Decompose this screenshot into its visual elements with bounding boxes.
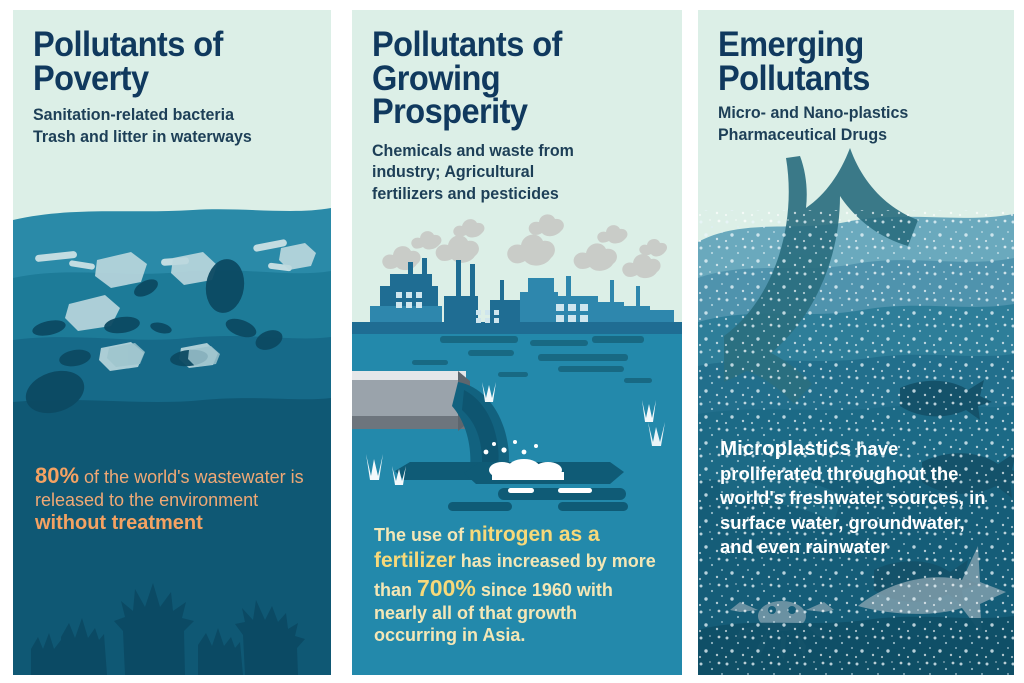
prosperity-header: Pollutants of Growing Prosperity Chemica… — [352, 10, 682, 205]
poverty-subtitle: Sanitation-related bacteria Trash and li… — [33, 105, 303, 148]
prosperity-stat-lead: The use of — [374, 525, 469, 545]
poverty-header: Pollutants of Poverty Sanitation-related… — [13, 10, 331, 148]
poverty-stat-emphasis: without treatment — [35, 512, 203, 534]
poverty-stat-value: 80% — [35, 463, 79, 488]
infographic-board: Pollutants of Poverty Sanitation-related… — [0, 0, 1024, 683]
emerging-statistic: Microplastics have proliferated througho… — [720, 435, 994, 560]
page-title-poverty: Pollutants of Poverty — [33, 28, 292, 95]
panel-emerging-pollutants: Emerging Pollutants Micro- and Nano-plas… — [698, 10, 1014, 675]
panel-pollutants-of-growing-prosperity: Pollutants of Growing Prosperity Chemica… — [352, 10, 682, 675]
emerging-header: Emerging Pollutants Micro- and Nano-plas… — [698, 10, 1014, 146]
page-title-emerging: Emerging Pollutants — [718, 28, 975, 95]
emerging-stat-emphasis: Microplastics — [720, 437, 851, 460]
prosperity-stat-value: 700% — [417, 575, 476, 601]
prosperity-subtitle: Chemicals and waste from industry; Agric… — [372, 141, 653, 205]
poverty-statistic: 80% of the world's wastewater is release… — [35, 462, 311, 536]
page-title-prosperity: Pollutants of Growing Prosperity — [372, 28, 642, 129]
prosperity-statistic: The use of nitrogen as a fertilizer has … — [374, 522, 662, 646]
panel-pollutants-of-poverty: Pollutants of Poverty Sanitation-related… — [13, 10, 331, 675]
outfall-pipe — [352, 371, 470, 431]
emerging-subtitle: Micro- and Nano-plastics Pharmaceutical … — [718, 103, 986, 146]
